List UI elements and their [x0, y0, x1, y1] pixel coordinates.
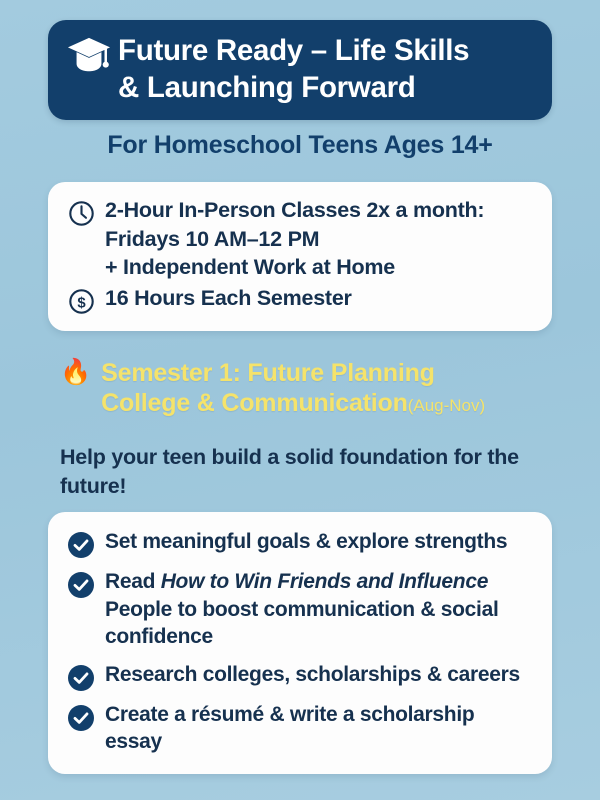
- header-title-group: Future Ready – Life Skills & Launching F…: [118, 32, 469, 106]
- logistics-row-hours: $ 16 Hours Each Semester: [68, 284, 534, 315]
- logistics-text-line: 2-Hour In-Person Classes 2x a month:: [105, 196, 484, 225]
- header-banner: Future Ready – Life Skills & Launching F…: [48, 20, 552, 120]
- graduation-cap-icon: [66, 34, 112, 78]
- lede-paragraph: Help your teen build a solid foundation …: [60, 443, 560, 500]
- semester-heading-text-group: Semester 1: Future Planning College & Co…: [101, 358, 485, 418]
- list-item-text: Read How to Win Friends and Influence Pe…: [105, 568, 534, 651]
- book-title: How to Win Friends and Influence: [161, 570, 488, 593]
- semester-heading-line-1: Semester 1: Future Planning: [101, 358, 485, 388]
- logistics-text-line: Fridays 10 AM–12 PM: [105, 225, 484, 254]
- list-item-text: Research colleges, scholarships & career…: [105, 661, 520, 689]
- fire-emoji: 🔥: [60, 358, 91, 387]
- logistics-text-line: + Independent Work at Home: [105, 253, 484, 282]
- poster-canvas: Future Ready – Life Skills & Launching F…: [0, 0, 600, 800]
- clock-icon: [68, 200, 95, 227]
- list-item-text-pre: Read: [105, 570, 161, 593]
- semester-dates: (Aug-Nov): [408, 396, 485, 415]
- logistics-card: 2-Hour In-Person Classes 2x a month: Fri…: [48, 182, 552, 331]
- check-circle-icon: [68, 665, 94, 691]
- check-circle-icon: [68, 572, 94, 598]
- list-item: Read How to Win Friends and Influence Pe…: [68, 568, 534, 651]
- list-item-text: Set meaningful goals & explore strengths: [105, 528, 507, 556]
- logistics-row-schedule: 2-Hour In-Person Classes 2x a month: Fri…: [68, 196, 534, 282]
- list-item: Set meaningful goals & explore strengths: [68, 528, 534, 558]
- audience-subtitle: For Homeschool Teens Ages 14+: [0, 131, 600, 160]
- logistics-schedule-text-group: 2-Hour In-Person Classes 2x a month: Fri…: [105, 196, 484, 282]
- header-title-line-2: & Launching Forward: [118, 69, 469, 106]
- list-item: Create a résumé & write a scholarship es…: [68, 701, 534, 756]
- logistics-hours-text: 16 Hours Each Semester: [105, 284, 352, 313]
- semester-heading-row: 🔥 Semester 1: Future Planning College & …: [60, 358, 570, 418]
- semester-heading-block: 🔥 Semester 1: Future Planning College & …: [60, 358, 570, 418]
- list-item-text-post: People to boost communication & social c…: [105, 598, 499, 649]
- svg-text:$: $: [77, 294, 86, 311]
- semester-heading-line-2: College & Communication(Aug-Nov): [101, 388, 485, 418]
- outcomes-card: Set meaningful goals & explore strengths…: [48, 512, 552, 774]
- list-item: Research colleges, scholarships & career…: [68, 661, 534, 691]
- check-circle-icon: [68, 532, 94, 558]
- list-item-text: Create a résumé & write a scholarship es…: [105, 701, 534, 756]
- check-circle-icon: [68, 705, 94, 731]
- dollar-circle-icon: $: [68, 288, 95, 315]
- semester-heading-line-2-text: College & Communication: [101, 389, 408, 417]
- header-title-line-1: Future Ready – Life Skills: [118, 32, 469, 69]
